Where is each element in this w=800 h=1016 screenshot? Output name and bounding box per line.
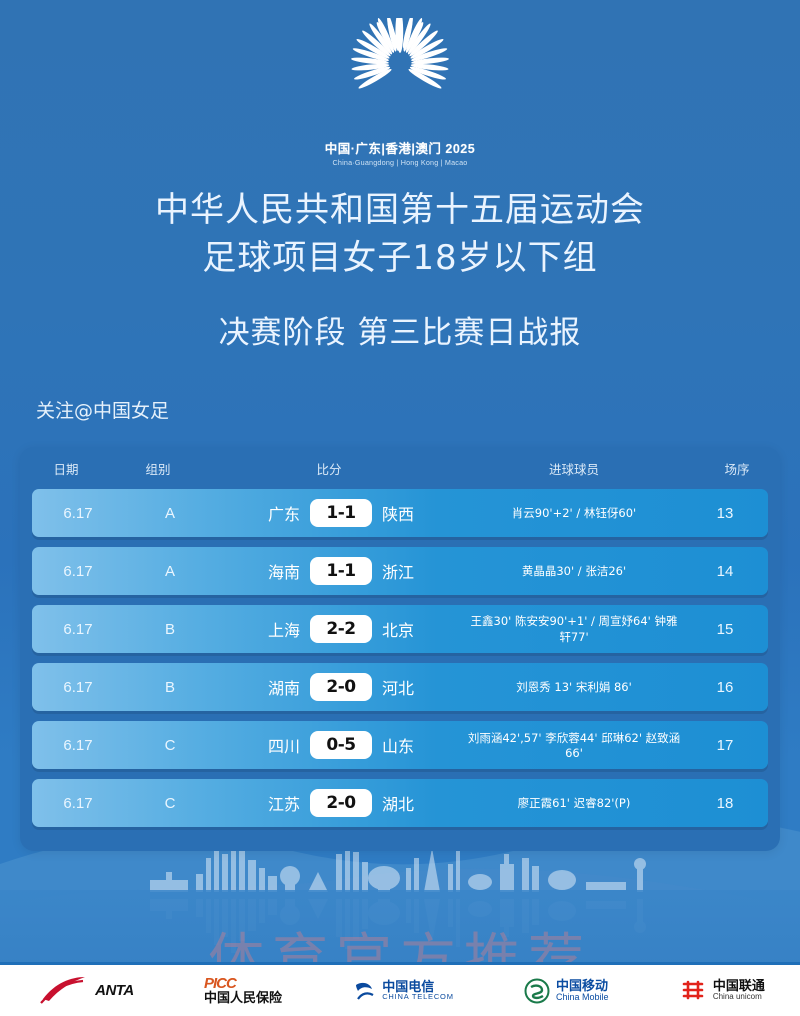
results-table: 日期 组别 比分 进球球员 场序 6.17 A 广东 1-1 陕西 肖云90'+… [20,447,780,851]
logo-title-cn: 中国·广东|香港|澳门 2025 [0,138,800,157]
follow-handle: 关注@中国女足 [36,396,169,423]
cell-match: 江苏 2-0 湖北 [216,789,466,817]
away-team: 湖北 [382,791,444,815]
china-unicom-name-en: China unicom [713,993,765,1001]
title-line-3: 决赛阶段 第三比赛日战报 [0,307,800,352]
score-box: 2-0 [310,789,372,817]
china-mobile-logo-icon [524,978,550,1004]
china-unicom-logo-icon [679,978,707,1004]
table-row[interactable]: 6.17 A 海南 1-1 浙江 黄晶晶30' / 张洁26' 14 [32,547,768,595]
home-team: 广东 [238,501,300,525]
home-team: 江苏 [238,791,300,815]
score-box: 0-5 [310,731,372,759]
cell-group: C [124,795,216,812]
cell-match-number: 18 [682,795,768,812]
away-team: 河北 [382,675,444,699]
cell-scorers: 刘恩秀 13' 宋利娟 86' [466,679,682,695]
home-team: 海南 [238,559,300,583]
picc-name-cn: 中国人民保险 [204,992,282,1006]
cell-match-number: 15 [682,621,768,638]
title-line-1: 中华人民共和国第十五届运动会 [0,186,800,234]
cell-match-number: 13 [682,505,768,522]
sponsor-anta: ANTA [35,975,134,1007]
header-match-number: 场序 [694,459,780,478]
table-row[interactable]: 6.17 B 上海 2-2 北京 王鑫30' 陈安安90'+1' / 周宣妤64… [32,605,768,653]
china-unicom-name-cn: 中国联通 [713,979,765,993]
china-telecom-name-cn: 中国电信 [382,980,454,994]
sponsor-picc: PICC 中国人民保险 [204,976,282,1005]
cell-match: 湖南 2-0 河北 [216,673,466,701]
anta-wordmark: ANTA [95,982,134,999]
home-team: 上海 [238,617,300,641]
header-date: 日期 [20,459,112,478]
china-mobile-name-en: China Mobile [556,993,609,1002]
china-telecom-name-en: CHINA TELECOM [382,993,454,1001]
anta-logo-icon [35,975,89,1007]
table-row[interactable]: 6.17 C 四川 0-5 山东 刘雨涵42',57' 李欣蓉44' 邱琳62'… [32,721,768,769]
cell-group: B [124,679,216,696]
cell-group: C [124,737,216,754]
score-box: 1-1 [310,499,372,527]
sponsor-china-telecom: 中国电信 CHINA TELECOM [352,979,454,1003]
title-line-2: 足球项目女子18岁以下组 [0,234,800,282]
cell-match-number: 17 [682,737,768,754]
water-band [0,890,800,968]
picc-wordmark: PICC [204,976,282,992]
header-scorers: 进球球员 [454,459,694,478]
sponsor-china-mobile: 中国移动 China Mobile [524,978,609,1004]
fireworks-emblem-icon [320,18,480,136]
away-team: 山东 [382,733,444,757]
table-row[interactable]: 6.17 B 湖南 2-0 河北 刘恩秀 13' 宋利娟 86' 16 [32,663,768,711]
cell-date: 6.17 [32,505,124,522]
cell-scorers: 廖正霞61' 迟睿82'(P) [466,795,682,811]
away-team: 北京 [382,617,444,641]
logo-title-en: China·Guangdong | Hong Kong | Macao [0,158,800,167]
cell-date: 6.17 [32,621,124,638]
cell-match-number: 14 [682,563,768,580]
cell-date: 6.17 [32,679,124,696]
cell-group: A [124,505,216,522]
sponsor-bar: ANTA PICC 中国人民保险 中国电信 CHINA TELECOM [0,962,800,1016]
cell-match: 四川 0-5 山东 [216,731,466,759]
home-team: 湖南 [238,675,300,699]
cell-match: 上海 2-2 北京 [216,615,466,643]
cell-scorers: 肖云90'+2' / 林钰伢60' [466,505,682,521]
china-telecom-logo-icon [352,979,376,1003]
table-row[interactable]: 6.17 A 广东 1-1 陕西 肖云90'+2' / 林钰伢60' 13 [32,489,768,537]
cell-date: 6.17 [32,795,124,812]
cell-match: 海南 1-1 浙江 [216,557,466,585]
page-title: 中华人民共和国第十五届运动会 足球项目女子18岁以下组 决赛阶段 第三比赛日战报 [0,186,800,352]
away-team: 浙江 [382,559,444,583]
table-header-row: 日期 组别 比分 进球球员 场序 [20,447,780,489]
cell-date: 6.17 [32,563,124,580]
score-box: 2-0 [310,673,372,701]
poster-root: 中国·广东|香港|澳门 2025 China·Guangdong | Hong … [0,0,800,1016]
table-row[interactable]: 6.17 C 江苏 2-0 湖北 廖正霞61' 迟睿82'(P) 18 [32,779,768,827]
score-box: 2-2 [310,615,372,643]
cell-scorers: 王鑫30' 陈安安90'+1' / 周宣妤64' 钟雅轩77' [466,613,682,645]
cell-group: B [124,621,216,638]
cell-scorers: 黄晶晶30' / 张洁26' [466,563,682,579]
away-team: 陕西 [382,501,444,525]
header-score: 比分 [204,459,454,478]
score-box: 1-1 [310,557,372,585]
home-team: 四川 [238,733,300,757]
cell-match: 广东 1-1 陕西 [216,499,466,527]
cell-match-number: 16 [682,679,768,696]
event-logo: 中国·广东|香港|澳门 2025 China·Guangdong | Hong … [0,18,800,167]
cell-scorers: 刘雨涵42',57' 李欣蓉44' 邱琳62' 赵致涵66' [466,730,682,760]
sponsor-china-unicom: 中国联通 China unicom [679,978,765,1004]
header-group: 组别 [112,459,204,478]
china-mobile-name-cn: 中国移动 [556,979,609,993]
cell-group: A [124,563,216,580]
cell-date: 6.17 [32,737,124,754]
